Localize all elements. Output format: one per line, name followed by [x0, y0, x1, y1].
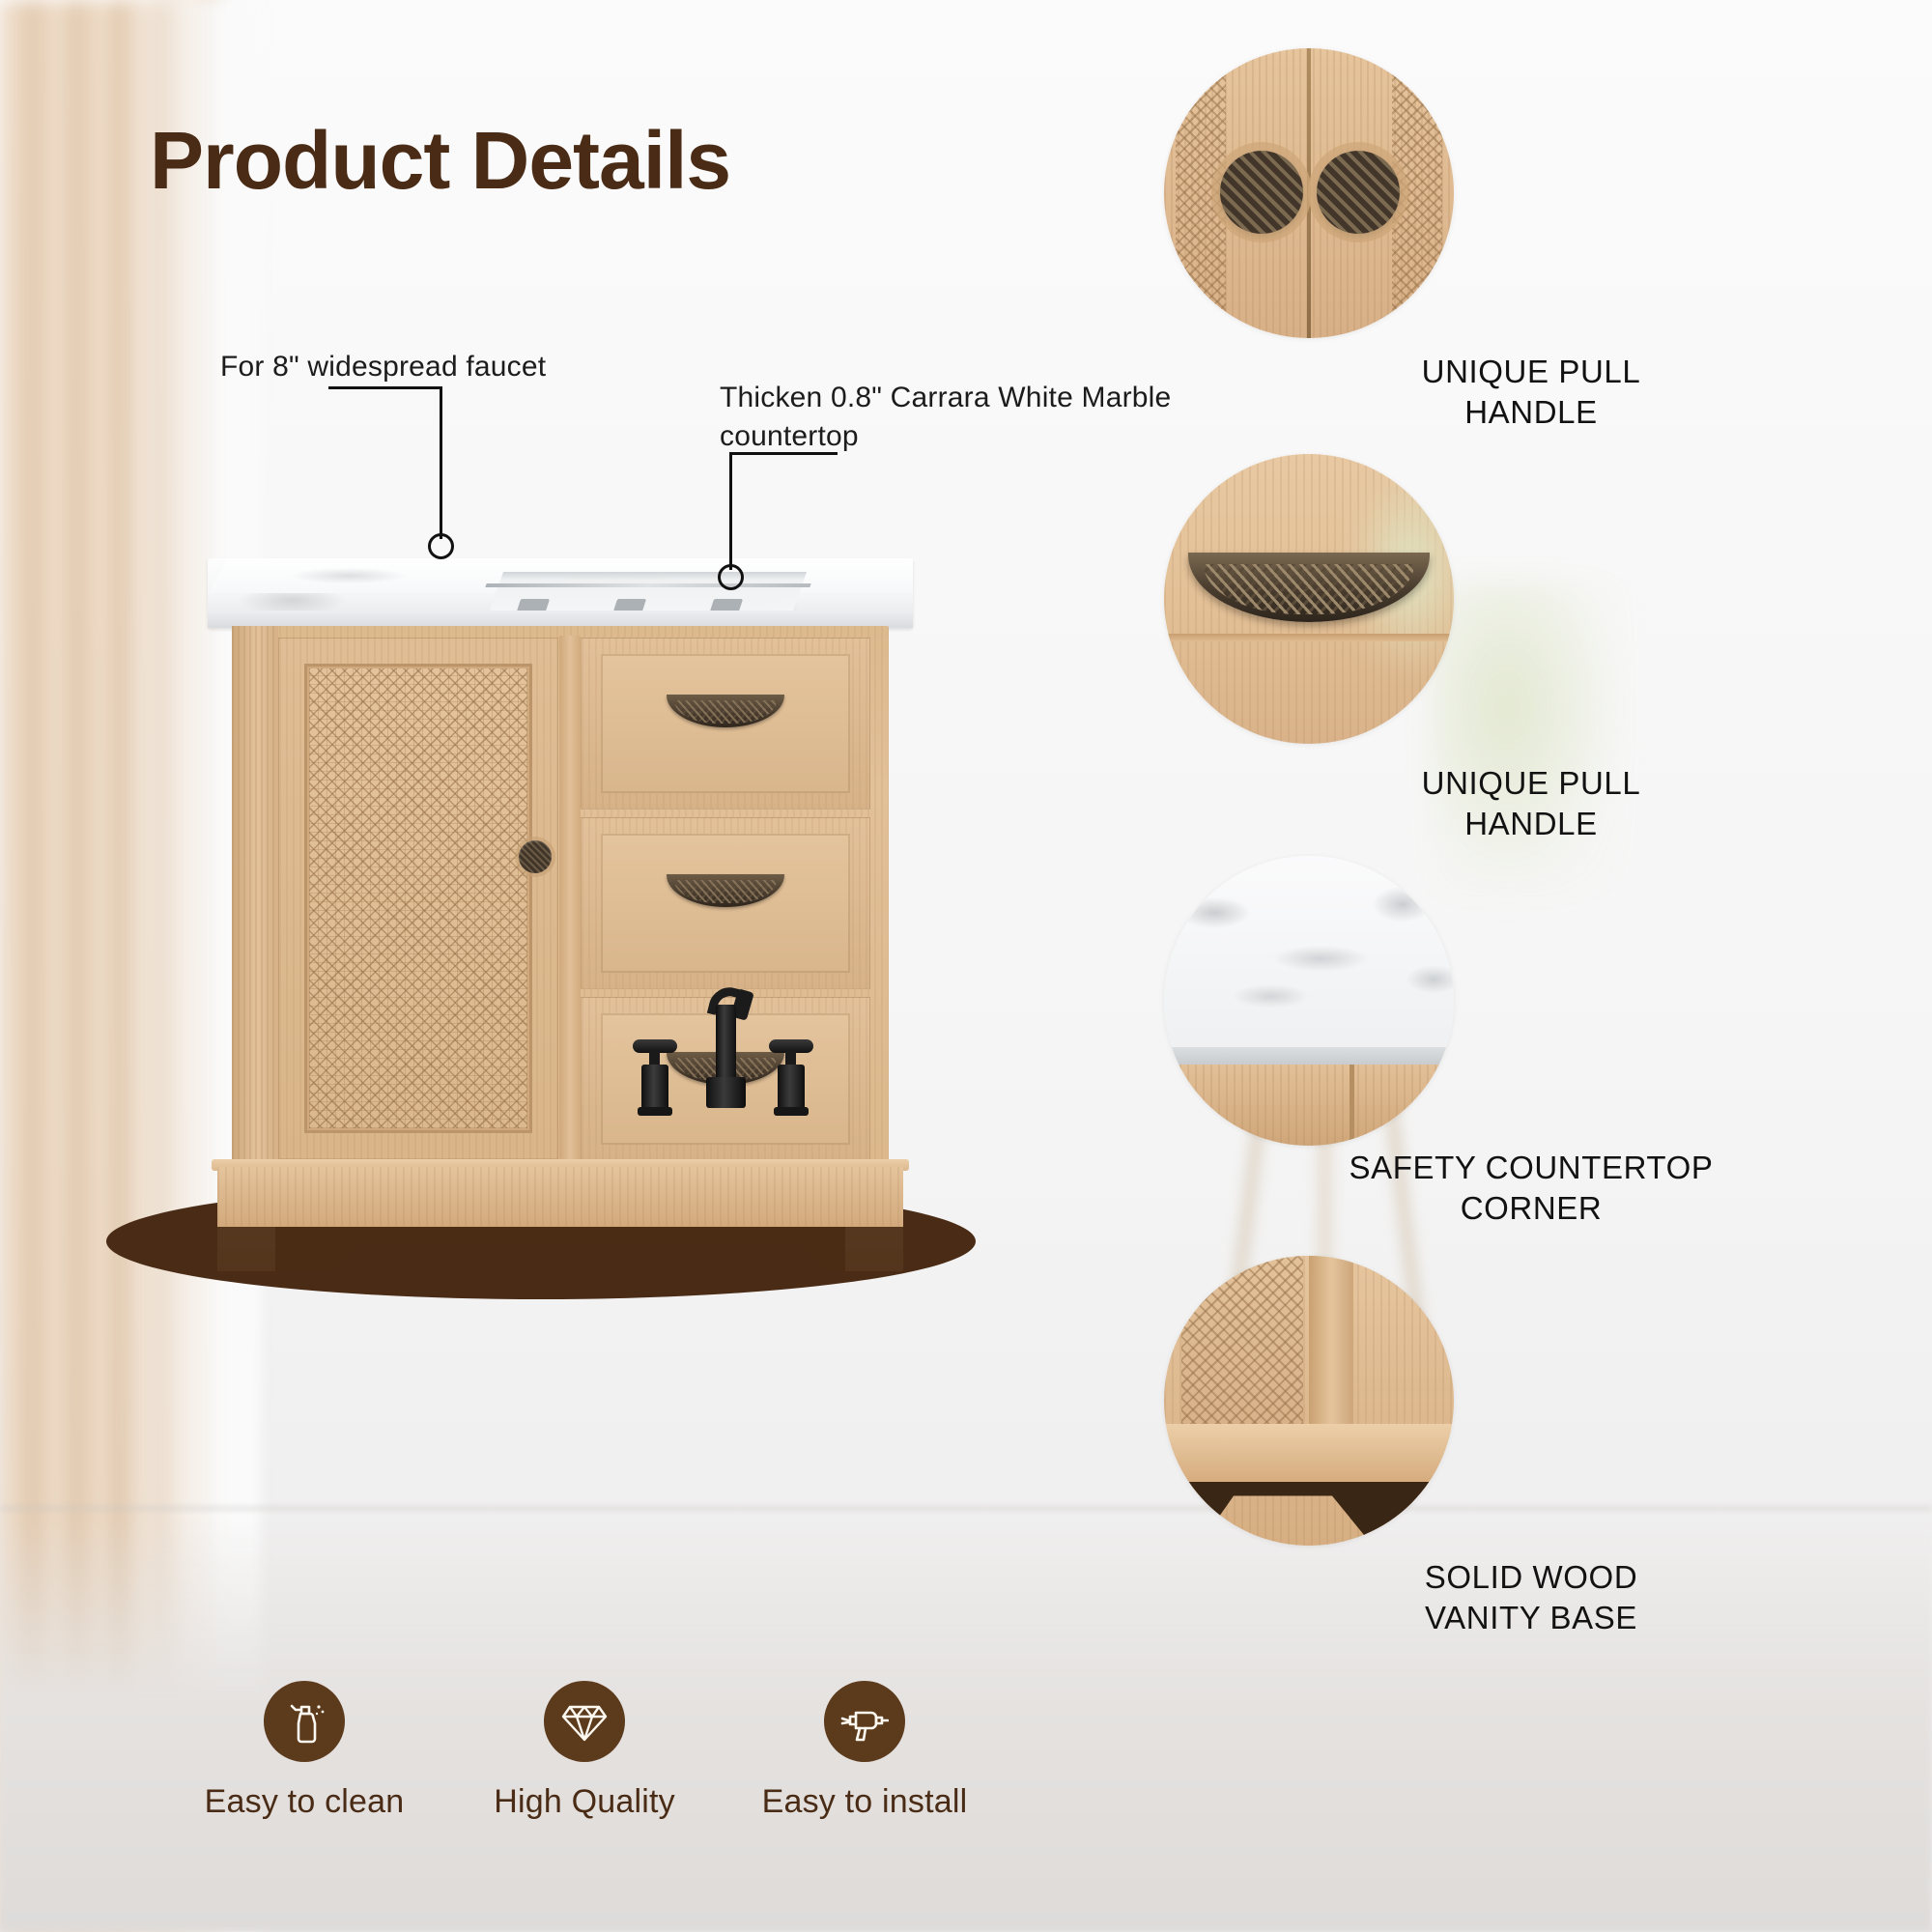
cabinet-left-post: [232, 626, 278, 1167]
base-cane-panel: [1181, 1256, 1303, 1424]
photo-drawer-cup-pull: [1164, 454, 1454, 744]
product-vanity: [179, 551, 942, 1285]
background-plant-blur: [1430, 580, 1623, 898]
vanity-plinth: [217, 1167, 903, 1227]
feature-high-quality: High Quality: [449, 1681, 720, 1821]
callout-label-widespread-faucet: For 8" widespread faucet: [220, 348, 546, 386]
faucet-left-handle-foot: [638, 1107, 672, 1116]
drawer-middle: [581, 817, 870, 989]
drawer-seam-line: [1164, 634, 1454, 641]
marble-surface: [1164, 856, 1454, 1059]
diamond-icon: [544, 1681, 625, 1762]
spray-bottle-icon: [264, 1681, 345, 1762]
detail-label-line1-corner: SAFETY COUNTERTOP: [1150, 1148, 1913, 1189]
vanity-toe-kick: [217, 1227, 903, 1271]
detail-label-line2-base: VANITY BASE: [1150, 1598, 1913, 1639]
feature-label-high-quality: High Quality: [449, 1783, 720, 1821]
drawer-top: [581, 638, 870, 810]
faucet-spout-base: [706, 1077, 746, 1108]
door-knob-handle: [519, 840, 552, 873]
detail-label-line2-cup: HANDLE: [1150, 804, 1913, 845]
feature-easy-to-clean: Easy to clean: [169, 1681, 440, 1821]
photo-cabinet-door-knobs: [1164, 48, 1454, 338]
cabinet-center-stile: [559, 636, 581, 1161]
page-title: Product Details: [150, 114, 730, 208]
door-knob-icon-right: [1317, 151, 1400, 234]
leader-line-countertop: [729, 452, 865, 607]
photo-marble-corner: [1164, 856, 1454, 1146]
door-knob-icon-left: [1220, 151, 1303, 234]
faucet-left-handle-body: [641, 1065, 668, 1111]
leader-endpoint-countertop: [718, 564, 744, 590]
cane-rattan-panel: [309, 668, 527, 1128]
cabinet-door: [278, 638, 558, 1159]
background-floor-line: [0, 1507, 1932, 1510]
photo-vanity-base-corner: [1164, 1256, 1454, 1546]
cabinet-corner-edge: [1350, 1065, 1354, 1146]
faucet-right-handle-foot: [774, 1107, 809, 1116]
drill-icon: [824, 1681, 905, 1762]
detail-label-line2-knob: HANDLE: [1150, 392, 1913, 434]
faucet-spout-column: [716, 1005, 736, 1088]
leader-endpoint-faucet: [428, 533, 454, 559]
leader-line-faucet: [328, 386, 473, 570]
feature-label-easy-to-install: Easy to install: [729, 1783, 1000, 1821]
feature-easy-to-install: Easy to install: [729, 1681, 1000, 1821]
carved-trim-left: [1176, 48, 1226, 338]
door-gap-line: [1307, 48, 1311, 338]
detail-label-line1-cup: UNIQUE PULL: [1150, 763, 1913, 805]
base-plinth-band: [1164, 1424, 1454, 1482]
feature-label-easy-to-clean: Easy to clean: [169, 1783, 440, 1821]
door-frame-bevel: [304, 664, 532, 1133]
faucet-right-handle-body: [778, 1065, 805, 1111]
base-corner-stile: [1309, 1256, 1353, 1435]
detail-label-line1-base: SOLID WOOD: [1150, 1557, 1913, 1599]
detail-label-line1-knob: UNIQUE PULL: [1150, 352, 1913, 393]
callout-label-marble-countertop: Thicken 0.8" Carrara White Marble counte…: [720, 379, 1174, 456]
cabinet-side-wood: [1164, 1065, 1454, 1146]
detail-label-line2-corner: CORNER: [1150, 1188, 1913, 1230]
